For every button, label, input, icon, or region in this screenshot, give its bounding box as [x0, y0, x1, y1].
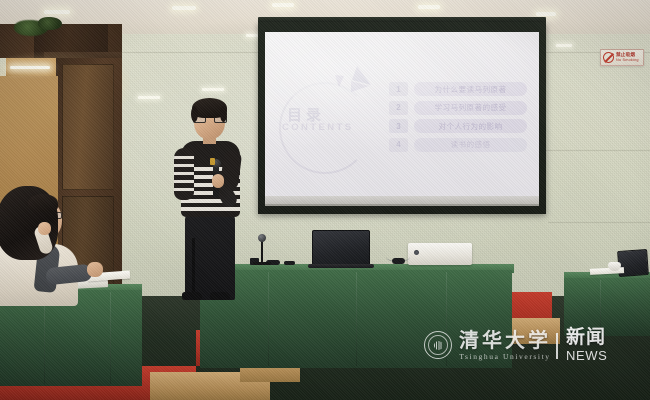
- item-label: 为什么要读马列原著: [414, 82, 527, 96]
- sign-label-en: No Smoking: [616, 58, 639, 62]
- item-number: 3: [389, 119, 408, 133]
- wall-seam: [548, 222, 650, 223]
- speaker-hand: [212, 174, 224, 188]
- ceiling-light: [272, 3, 294, 7]
- item-number: 2: [389, 101, 408, 115]
- seated-attendee: [0, 186, 114, 304]
- news-watermark: 新闻 NEWS: [566, 328, 607, 362]
- attendee-hand-to-face: [38, 222, 51, 235]
- plant-decor: [38, 17, 62, 30]
- laptop-base-center[interactable]: [308, 264, 374, 268]
- sign-text: 禁止吸烟 No Smoking: [616, 53, 639, 62]
- no-smoking-icon: [603, 52, 614, 63]
- wall-light: [202, 88, 224, 91]
- watermark-divider: [556, 333, 558, 359]
- university-name: 清华大学 Tsinghua University: [459, 330, 551, 361]
- tsinghua-seal-icon: [424, 331, 452, 359]
- news-label-en: NEWS: [566, 349, 607, 362]
- valance-light: [10, 66, 50, 69]
- university-name-cn: 清华大学: [459, 330, 551, 350]
- speaker-left-sleeve: [174, 148, 194, 200]
- wall-seam: [546, 150, 650, 151]
- speaker-shoe-left: [182, 292, 202, 300]
- screen-bottom-bar: [265, 196, 539, 206]
- table-fold: [110, 292, 111, 384]
- list-item: 2 学习马列原著的感受: [389, 101, 527, 115]
- list-item: 4 读书的感悟: [389, 138, 527, 152]
- news-label-cn: 新闻: [566, 328, 607, 347]
- item-label: 读书的感悟: [414, 138, 527, 152]
- attendee-forearm: [45, 264, 93, 286]
- list-item: 1 为什么要读马列原著: [389, 82, 527, 96]
- item-number: 4: [389, 138, 408, 152]
- adapter: [392, 258, 405, 264]
- door-panel: [62, 64, 114, 190]
- pointer-device: [284, 261, 295, 265]
- projection-screen: 目录 CONTENTS 1 为什么要读马列原著 2 学习马列原著的感受 3 对个…: [265, 32, 539, 204]
- slide-contents-list: 1 为什么要读马列原著 2 学习马列原著的感受 3 对个人行为的影响 4 读书的…: [389, 82, 527, 156]
- arrow-triangle-logo-icon: [331, 65, 375, 101]
- slide-heading-en: CONTENTS: [282, 122, 353, 133]
- wall-light: [556, 44, 572, 47]
- ceiling-light: [418, 5, 440, 9]
- item-label: 学习马列原著的感受: [414, 101, 527, 115]
- speaker-shoe-right: [210, 292, 230, 300]
- projector-lens-icon: [414, 250, 419, 255]
- attendee-fringe: [28, 194, 58, 212]
- mic-stand-base: [253, 262, 271, 265]
- list-item: 3 对个人行为的影响: [389, 119, 527, 133]
- ceiling-light: [44, 10, 70, 14]
- ceiling-light: [172, 6, 196, 10]
- university-watermark: 清华大学 Tsinghua University: [424, 330, 551, 361]
- item-number: 1: [389, 82, 408, 96]
- item-label: 对个人行为的影响: [414, 119, 527, 133]
- table-fold: [356, 272, 357, 366]
- university-name-en: Tsinghua University: [459, 353, 551, 361]
- table-fold: [268, 272, 269, 366]
- speaker-person: [168, 96, 252, 300]
- attendee-hand: [87, 262, 103, 277]
- speaker-badge: [210, 158, 215, 165]
- laptop-screen-center[interactable]: [312, 230, 370, 266]
- speaker-hair-side: [191, 106, 198, 122]
- mic-capsule-icon: [258, 234, 266, 242]
- speaker-hair-side: [220, 106, 227, 122]
- no-smoking-sign: 禁止吸烟 No Smoking: [600, 49, 644, 66]
- speaker-leg-split: [192, 238, 195, 300]
- wall-light: [138, 96, 160, 99]
- ceiling-light: [536, 12, 556, 16]
- photo-scene: 目录 CONTENTS 1 为什么要读马列原著 2 学习马列原著的感受 3 对个…: [0, 0, 650, 400]
